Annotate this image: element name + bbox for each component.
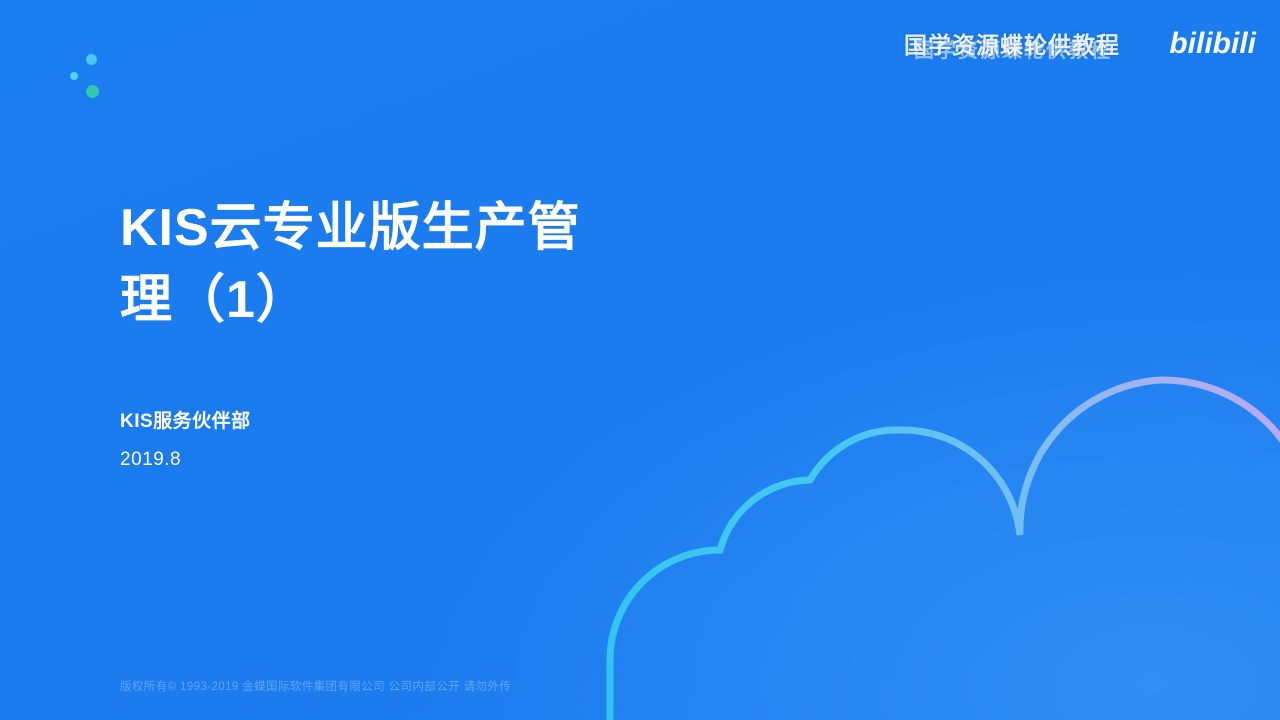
bilibili-logo-text: bilibili: [1128, 24, 1256, 64]
copyright-footer: 版权所有© 1993-2019 金蝶国际软件集团有限公司 公司内部公开 请勿外传: [120, 678, 511, 694]
page-title: KIS云专业版生产管 理（1）: [120, 192, 760, 336]
presenter-department: KIS服务伙伴部: [120, 406, 251, 433]
dot-teal-icon: [86, 85, 99, 98]
page-title-line-2: 理（1）: [120, 264, 760, 336]
dot-aqua-icon: [70, 72, 78, 80]
presentation-slide: 国学资源蝶轮供教程 国学资源蝶轮供教程 bilibili KIS云专业版生产管 …: [0, 0, 1280, 720]
watermark-primary: 国学资源蝶轮供教程: [904, 26, 1120, 60]
bilibili-logo: bilibili: [1128, 24, 1256, 64]
page-title-line-1: KIS云专业版生产管: [120, 192, 760, 264]
presentation-date: 2019.8: [120, 449, 181, 471]
dot-cyan-icon: [86, 54, 97, 65]
decorative-dots: [62, 52, 132, 122]
slide-background: [0, 0, 1280, 720]
